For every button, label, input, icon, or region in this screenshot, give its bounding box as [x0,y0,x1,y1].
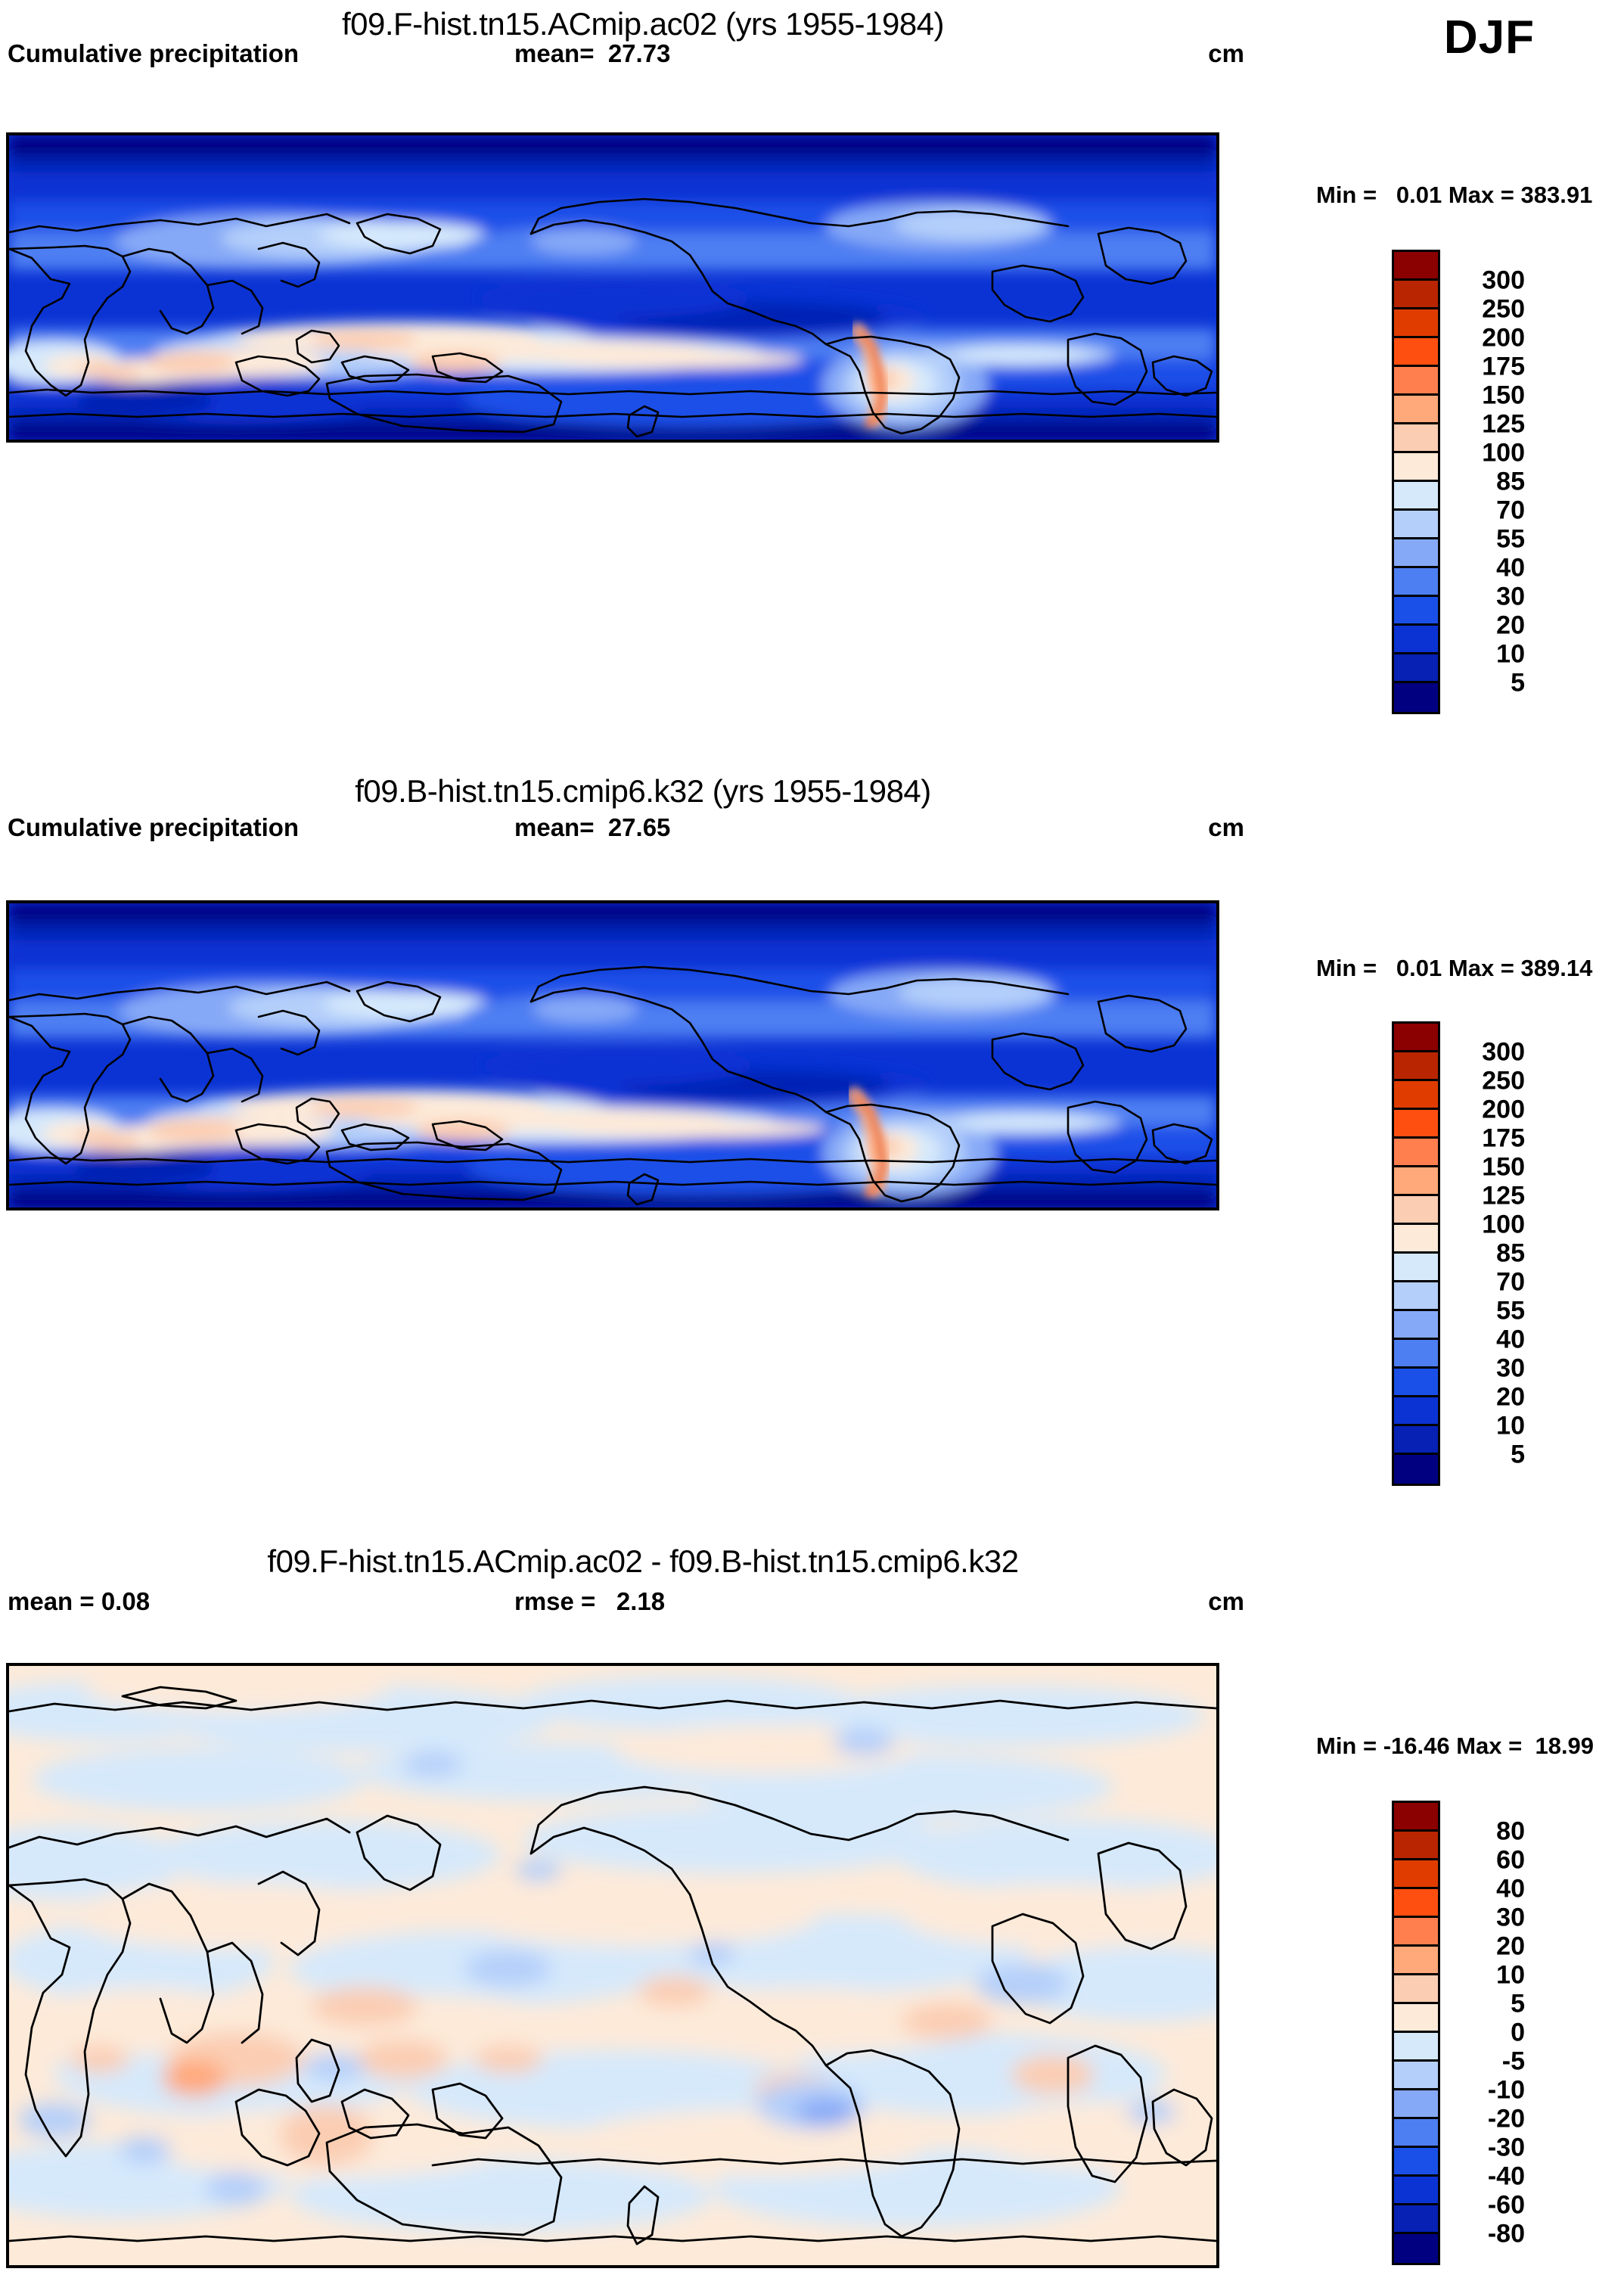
colorbar-swatch [1394,1254,1438,1282]
colorbar-tick-label: 150 [1452,1153,1525,1183]
colorbar-tick-label: 300 [1452,266,1525,296]
colorbar-tick-label: 5 [1452,1440,1525,1470]
colorbar-tick-label: 100 [1452,439,1525,468]
panel-diff-map [6,1663,1219,2268]
colorbar-tick-label: 200 [1452,1095,1525,1125]
colorbar-swatch [1394,1110,1438,1139]
colorbar-swatch [1394,2177,1438,2205]
colorbar-tick-label: 30 [1452,583,1525,612]
colorbar-tick-label: 5 [1452,1990,1525,2019]
colorbar-swatch [1394,1024,1438,1052]
panel-top-colorbar-bar [1392,250,1440,714]
colorbar-swatch [1394,1167,1438,1196]
colorbar-swatch [1394,626,1438,654]
colorbar-tick-label: 30 [1452,1354,1525,1384]
colorbar-swatch [1394,309,1438,338]
colorbar-tick-label: 55 [1452,525,1525,555]
colorbar-swatch [1394,1455,1438,1484]
panel-middle-mean: mean= 27.65 [514,813,670,842]
colorbar-swatch [1394,2004,1438,2033]
colorbar-tick-label: 125 [1452,410,1525,440]
colorbar-swatch [1394,597,1438,626]
panel-middle-units: cm [1208,813,1244,842]
colorbar-tick-label: 40 [1452,1325,1525,1355]
panel-middle-subheader: Cumulative precipitation mean= 27.65 cm [0,813,1244,845]
colorbar-swatch [1394,568,1438,597]
colorbar-swatch [1394,482,1438,511]
panel-middle-minmax: Min = 0.01 Max = 389.14 [1316,955,1592,982]
colorbar-swatch [1394,1918,1438,1947]
colorbar-tick-label: 250 [1452,1067,1525,1096]
panel-top-minmax: Min = 0.01 Max = 383.91 [1316,182,1592,209]
colorbar-tick-label: -40 [1452,2162,1525,2192]
colorbar-swatch [1394,1225,1438,1254]
panel-diff-rmse: rmse = 2.18 [514,1587,665,1616]
colorbar-swatch [1394,252,1438,281]
colorbar-swatch [1394,396,1438,424]
colorbar-swatch [1394,1369,1438,1397]
colorbar-tick-label: 10 [1452,640,1525,670]
colorbar-tick-label: -60 [1452,2191,1525,2221]
colorbar-tick-label: 125 [1452,1182,1525,1211]
panel-diff-minmax: Min = -16.46 Max = 18.99 [1316,1733,1594,1760]
colorbar-tick-label: 10 [1452,1412,1525,1441]
colorbar-tick-label: 70 [1452,1268,1525,1297]
colorbar-tick-label: -20 [1452,2105,1525,2134]
colorbar-swatch [1394,2033,1438,2062]
colorbar-swatch [1394,2119,1438,2148]
panel-middle-variable-label: Cumulative precipitation [8,813,299,842]
panel-top-variable-label: Cumulative precipitation [8,39,299,68]
colorbar-swatch [1394,424,1438,453]
colorbar-swatch [1394,2090,1438,2119]
panel-top-subheader: Cumulative precipitation mean= 27.73 cm [0,39,1244,71]
colorbar-tick-label: 70 [1452,496,1525,526]
colorbar-tick-label: 300 [1452,1038,1525,1068]
panel-middle-map [6,900,1219,1210]
colorbar-tick-label: 55 [1452,1297,1525,1326]
colorbar-swatch [1394,1860,1438,1889]
colorbar-swatch [1394,2234,1438,2263]
colorbar-tick-label: 20 [1452,611,1525,641]
precip-map-top [9,135,1216,440]
colorbar-swatch [1394,511,1438,539]
colorbar-swatch [1394,1340,1438,1369]
colorbar-tick-label: 175 [1452,1124,1525,1154]
colorbar-tick-label: 175 [1452,353,1525,382]
colorbar-swatch [1394,1803,1438,1832]
colorbar-tick-label: -5 [1452,2047,1525,2077]
colorbar-tick-label: 200 [1452,324,1525,353]
colorbar-tick-label: 80 [1452,1817,1525,1847]
colorbar-swatch [1394,1947,1438,1975]
panel-diff-subheader: mean = 0.08 rmse = 2.18 cm [0,1587,1244,1619]
panel-middle-title: f09.B-hist.tn15.cmip6.k32 (yrs 1955-1984… [0,773,1286,810]
colorbar-swatch [1394,1081,1438,1110]
panel-middle-colorbar-bar [1392,1021,1440,1486]
colorbar-swatch [1394,338,1438,367]
colorbar-tick-label: 60 [1452,1846,1525,1876]
panel-diff-units: cm [1208,1587,1244,1616]
colorbar-tick-label: 40 [1452,554,1525,583]
colorbar-swatch [1394,1196,1438,1225]
panel-top-mean: mean= 27.73 [514,39,670,68]
colorbar-swatch [1394,539,1438,568]
season-label: DJF [1444,11,1535,64]
colorbar-tick-label: 10 [1452,1961,1525,1991]
precip-diff-map [9,1666,1216,2265]
colorbar-swatch [1394,654,1438,683]
colorbar-swatch [1394,453,1438,482]
colorbar-swatch [1394,1139,1438,1167]
colorbar-tick-label: 0 [1452,2019,1525,2048]
colorbar-tick-label: -10 [1452,2076,1525,2106]
colorbar-swatch [1394,1282,1438,1311]
colorbar-tick-label: 20 [1452,1932,1525,1962]
colorbar-swatch [1394,367,1438,396]
colorbar-tick-label: 40 [1452,1875,1525,1904]
colorbar-swatch [1394,1426,1438,1455]
panel-diff-colorbar-bar [1392,1801,1440,2265]
colorbar-tick-label: 5 [1452,669,1525,698]
colorbar-swatch [1394,1832,1438,1860]
panel-top-map [6,132,1219,443]
precip-map-middle [9,903,1216,1207]
colorbar-tick-label: 85 [1452,468,1525,497]
colorbar-tick-label: 85 [1452,1239,1525,1269]
colorbar-swatch [1394,1052,1438,1081]
colorbar-swatch [1394,1889,1438,1918]
panel-diff-mean: mean = 0.08 [8,1587,150,1616]
panel-top-title: f09.F-hist.tn15.ACmip.ac02 (yrs 1955-198… [0,6,1286,42]
panel-diff-title: f09.F-hist.tn15.ACmip.ac02 - f09.B-hist.… [0,1543,1286,1580]
colorbar-tick-label: 150 [1452,381,1525,411]
colorbar-swatch [1394,2148,1438,2177]
colorbar-swatch [1394,1397,1438,1426]
colorbar-tick-label: -80 [1452,2220,1525,2249]
colorbar-tick-label: 30 [1452,1904,1525,1933]
colorbar-tick-label: 250 [1452,295,1525,325]
colorbar-tick-label: 100 [1452,1210,1525,1240]
colorbar-swatch [1394,2062,1438,2090]
panel-top-units: cm [1208,39,1244,68]
colorbar-swatch [1394,2205,1438,2234]
colorbar-swatch [1394,683,1438,712]
colorbar-swatch [1394,1975,1438,2004]
colorbar-tick-label: 20 [1452,1383,1525,1412]
colorbar-swatch [1394,281,1438,309]
colorbar-swatch [1394,1311,1438,1340]
colorbar-tick-label: -30 [1452,2133,1525,2163]
